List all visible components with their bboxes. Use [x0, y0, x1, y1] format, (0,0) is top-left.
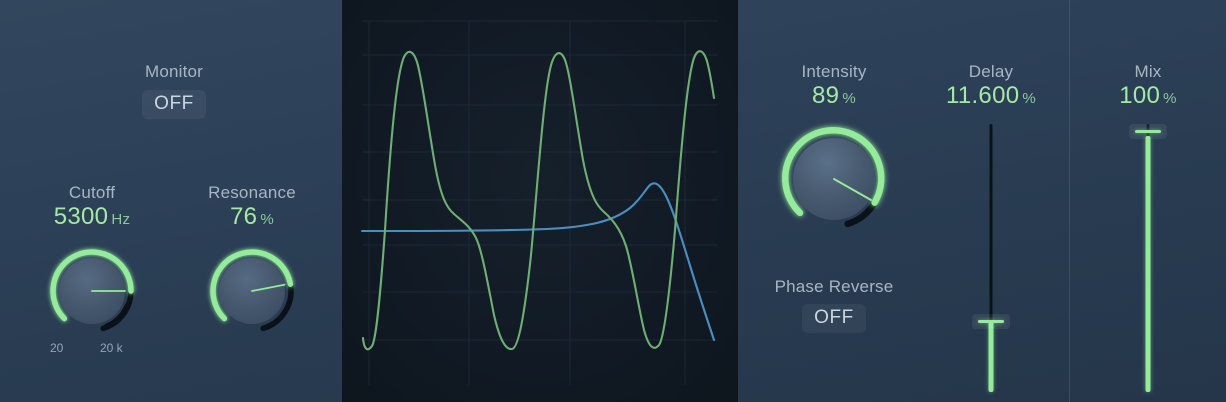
waveform-display[interactable]	[342, 0, 738, 402]
mix-section: Mix 100%	[1082, 62, 1214, 392]
delay-slider-fill	[989, 321, 994, 392]
intensity-unit: %	[842, 90, 856, 107]
monitor-toggle-button[interactable]: OFF	[142, 90, 206, 119]
mix-slider-fill	[1146, 136, 1151, 392]
cutoff-section: Cutoff 5300Hz	[30, 183, 154, 341]
phase-reverse-label: Phase Reverse	[760, 277, 908, 297]
cutoff-min-label: 20	[50, 341, 63, 355]
mix-number: 100	[1119, 82, 1160, 109]
mix-slider-handle[interactable]	[1129, 124, 1167, 139]
mix-unit: %	[1163, 90, 1177, 107]
resonance-label: Resonance	[190, 183, 314, 203]
plugin-window: Monitor OFF Cutoff 5300Hz	[0, 0, 1226, 402]
cutoff-value: 5300Hz	[30, 203, 154, 231]
monitor-section: Monitor OFF	[118, 62, 230, 119]
intensity-knob[interactable]	[775, 120, 893, 238]
cutoff-knob[interactable]: 20 20 k	[42, 241, 142, 341]
mix-slider[interactable]	[1116, 124, 1180, 392]
mix-value: 100%	[1082, 82, 1214, 110]
filter-response-curve	[362, 183, 714, 340]
delay-value: 11.600%	[925, 82, 1057, 110]
mix-label: Mix	[1082, 62, 1214, 82]
intensity-number: 89	[812, 82, 839, 109]
resonance-knob[interactable]	[202, 241, 302, 341]
cutoff-label: Cutoff	[30, 183, 154, 203]
resonance-section: Resonance 76%	[190, 183, 314, 341]
intensity-label: Intensity	[772, 62, 896, 82]
resonance-value: 76%	[190, 203, 314, 231]
cutoff-max-label: 20 k	[100, 341, 123, 355]
delay-unit: %	[1022, 90, 1036, 107]
delay-section: Delay 11.600%	[925, 62, 1057, 392]
display-plot	[342, 0, 738, 402]
grid	[362, 21, 718, 385]
delay-slider-handle[interactable]	[972, 314, 1010, 329]
cutoff-number: 5300	[54, 203, 109, 230]
resonance-unit: %	[260, 211, 274, 228]
cutoff-unit: Hz	[111, 211, 130, 228]
intensity-value: 89%	[772, 82, 896, 110]
phase-reverse-toggle-button[interactable]: OFF	[802, 304, 866, 333]
delay-label: Delay	[925, 62, 1057, 82]
delay-number: 11.600	[946, 82, 1019, 109]
intensity-section: Intensity 89%	[772, 62, 896, 238]
resonance-number: 76	[230, 203, 257, 230]
delay-slider[interactable]	[959, 124, 1023, 392]
panel-divider	[1069, 0, 1070, 402]
phase-reverse-section: Phase Reverse OFF	[760, 277, 908, 333]
monitor-label: Monitor	[118, 62, 230, 82]
